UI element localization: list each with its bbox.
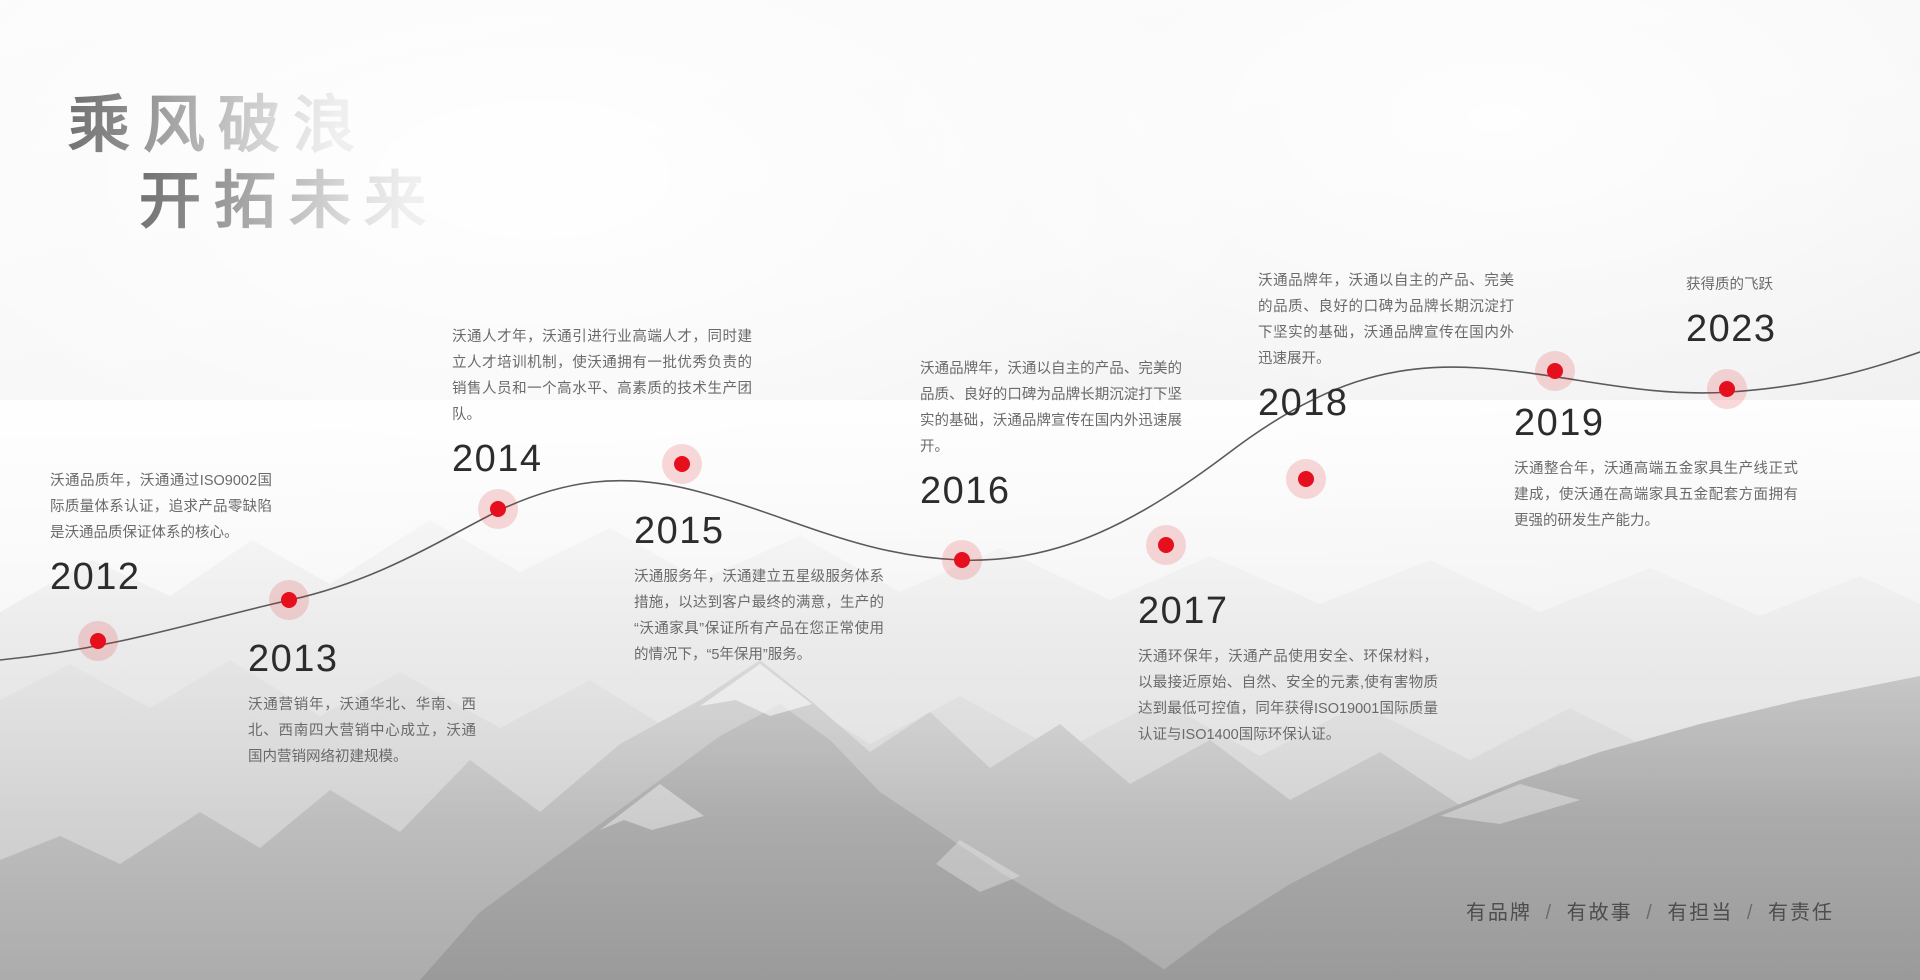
entry-year: 2016 bbox=[920, 472, 1182, 510]
milestone-node-2014[interactable] bbox=[478, 489, 518, 529]
entry-description: 沃通环保年，沃通产品使用安全、环保材料，以最接近原始、自然、安全的元素,使有害物… bbox=[1138, 644, 1438, 748]
tagline-part-1: 有品牌 bbox=[1466, 902, 1532, 924]
milestone-node-2019[interactable] bbox=[1535, 351, 1575, 391]
timeline-entry-2013: 2013 沃通营销年，沃通华北、华南、西北、西南四大营销中心成立，沃通国内营销网… bbox=[248, 640, 476, 770]
entry-year: 2017 bbox=[1138, 592, 1438, 630]
timeline-entry-2015: 2015 沃通服务年，沃通建立五星级服务体系措施，以达到客户最终的满意，生产的“… bbox=[634, 512, 884, 668]
entry-year: 2018 bbox=[1258, 384, 1514, 422]
tagline-separator: / bbox=[1741, 902, 1761, 924]
timeline-entry-2012: 沃通品质年，沃通通过ISO9002国际质量体系认证，追求产品零缺陷是沃通品质保证… bbox=[50, 468, 272, 596]
milestone-node-2023[interactable] bbox=[1707, 369, 1747, 409]
node-core bbox=[281, 592, 297, 608]
entry-description: 沃通整合年，沃通高端五金家具生产线正式建成，使沃通在高端家具五金配套方面拥有更强… bbox=[1514, 456, 1798, 534]
entry-year: 2012 bbox=[50, 558, 272, 596]
milestone-node-2017[interactable] bbox=[1146, 525, 1186, 565]
tagline-part-4: 有责任 bbox=[1768, 902, 1834, 924]
entry-year: 2023 bbox=[1686, 310, 1886, 348]
tagline-separator: / bbox=[1540, 902, 1560, 924]
tagline-part-3: 有担当 bbox=[1667, 902, 1733, 924]
entry-description: 沃通品质年，沃通通过ISO9002国际质量体系认证，追求产品零缺陷是沃通品质保证… bbox=[50, 468, 272, 546]
entry-description: 沃通服务年，沃通建立五星级服务体系措施，以达到客户最终的满意，生产的“沃通家具”… bbox=[634, 564, 884, 668]
timeline-entry-2018: 沃通品牌年，沃通以自主的产品、完美的品质、良好的口碑为品牌长期沉淀打下坚实的基础… bbox=[1258, 268, 1514, 422]
headline-line-2: 开拓未来 bbox=[139, 150, 439, 240]
tagline-separator: / bbox=[1640, 902, 1660, 924]
milestone-node-2018[interactable] bbox=[1286, 459, 1326, 499]
entry-description: 沃通营销年，沃通华北、华南、西北、西南四大营销中心成立，沃通国内营销网络初建规模… bbox=[248, 692, 476, 770]
entry-year: 2015 bbox=[634, 512, 884, 550]
milestone-node-2016[interactable] bbox=[942, 540, 982, 580]
node-core bbox=[90, 633, 106, 649]
entry-year: 2014 bbox=[452, 440, 752, 478]
milestone-node-2013[interactable] bbox=[269, 580, 309, 620]
timeline-entry-2016: 沃通品牌年，沃通以自主的产品、完美的品质、良好的口碑为品牌长期沉淀打下坚实的基础… bbox=[920, 356, 1182, 510]
node-core bbox=[1547, 363, 1563, 379]
footer-tagline: 有品牌 / 有故事 / 有担当 / 有责任 bbox=[1466, 896, 1834, 925]
tagline-part-2: 有故事 bbox=[1567, 902, 1633, 924]
node-core bbox=[490, 501, 506, 517]
milestone-node-2012[interactable] bbox=[78, 621, 118, 661]
timeline-entry-2019: 2019 沃通整合年，沃通高端五金家具生产线正式建成，使沃通在高端家具五金配套方… bbox=[1514, 404, 1798, 534]
entry-description: 沃通品牌年，沃通以自主的产品、完美的品质、良好的口碑为品牌长期沉淀打下坚实的基础… bbox=[920, 356, 1182, 460]
entry-description: 沃通人才年，沃通引进行业高端人才，同时建立人才培训机制，使沃通拥有一批优秀负责的… bbox=[452, 324, 752, 428]
timeline-entry-2023: 获得质的飞跃 2023 bbox=[1686, 272, 1886, 348]
node-core bbox=[1298, 471, 1314, 487]
node-core bbox=[954, 552, 970, 568]
node-core bbox=[1719, 381, 1735, 397]
entry-description: 获得质的飞跃 bbox=[1686, 272, 1886, 298]
timeline-entry-2014: 沃通人才年，沃通引进行业高端人才，同时建立人才培训机制，使沃通拥有一批优秀负责的… bbox=[452, 324, 752, 478]
entry-description: 沃通品牌年，沃通以自主的产品、完美的品质、良好的口碑为品牌长期沉淀打下坚实的基础… bbox=[1258, 268, 1514, 372]
timeline-infographic: 乘风破浪 开拓未来 沃通品质年，沃通通过 bbox=[0, 0, 1920, 980]
node-core bbox=[1158, 537, 1174, 553]
entry-year: 2013 bbox=[248, 640, 476, 678]
timeline-entry-2017: 2017 沃通环保年，沃通产品使用安全、环保材料，以最接近原始、自然、安全的元素… bbox=[1138, 592, 1438, 748]
entry-year: 2019 bbox=[1514, 404, 1798, 442]
